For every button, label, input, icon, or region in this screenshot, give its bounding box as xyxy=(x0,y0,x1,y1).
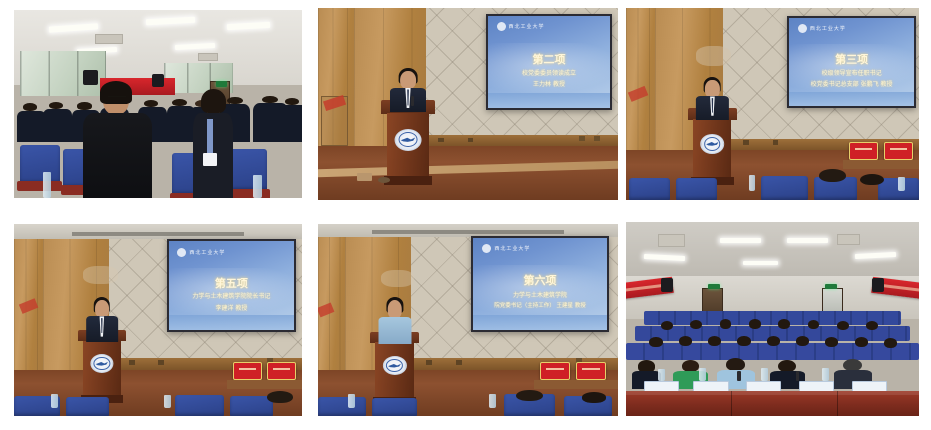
university-emblem-icon xyxy=(382,356,406,375)
glasses-icon xyxy=(108,96,127,101)
ceiling-vent xyxy=(658,234,684,248)
slide-subtitle-2: 院党委书记（主持工作） 王建星 教授 xyxy=(478,302,601,310)
wall-outlet xyxy=(773,140,779,145)
speaker-head xyxy=(400,71,416,90)
screen-logo-text: 西北工业大学 xyxy=(494,245,530,252)
speaker-person xyxy=(378,297,411,341)
speaker-shirt-light-blue xyxy=(378,317,411,343)
lanyard xyxy=(207,119,213,157)
screen-logo-text: 西北工业大学 xyxy=(509,23,545,30)
slide-title: 第五项 xyxy=(169,275,295,291)
wall-outlet xyxy=(129,360,135,365)
scene-audience-standing xyxy=(14,10,302,198)
speaker-person xyxy=(696,77,728,117)
slide-footer-band xyxy=(488,93,610,108)
wall-outlet xyxy=(158,360,164,365)
water-bottle xyxy=(253,175,262,198)
audience-back-rows xyxy=(14,93,302,142)
ceiling-vent xyxy=(198,53,218,61)
wall-speaker xyxy=(872,278,884,292)
university-emblem-icon xyxy=(177,248,186,257)
slide-footer-band xyxy=(169,315,295,329)
person-hair xyxy=(201,89,225,113)
ceiling-light xyxy=(743,261,778,265)
slide-title: 第三项 xyxy=(789,51,914,67)
ceiling-light xyxy=(787,238,828,243)
side-table xyxy=(534,380,618,390)
university-emblem-icon xyxy=(497,22,506,31)
name-plate xyxy=(884,142,913,159)
ceiling-vent xyxy=(837,234,860,246)
scene-podium-speaker: 西北工业大学 第二项 校党委委员领读成立 王力林 教授 xyxy=(318,8,618,200)
wall-panel-wood xyxy=(626,8,655,150)
table-seam xyxy=(837,391,838,416)
id-badge xyxy=(203,153,217,166)
slide-subtitle-1: 力学与土木建筑学院 xyxy=(478,291,601,300)
wall-speaker xyxy=(661,278,673,292)
screen-logo-text: 西北工业大学 xyxy=(810,25,846,32)
name-plate xyxy=(233,362,262,379)
foreground-audience xyxy=(626,169,919,200)
ceiling-light xyxy=(720,238,761,243)
university-emblem-icon xyxy=(482,244,491,253)
speaker-person xyxy=(390,68,426,110)
screen-logo: 西北工业大学 xyxy=(177,248,225,257)
speaker-head xyxy=(705,80,719,98)
slide-subtitle-2: 校党委书记总支部 张鹏飞 教授 xyxy=(794,80,909,89)
scene-audience-wide xyxy=(626,222,919,416)
emblem-bird-icon xyxy=(706,141,719,147)
slide-subtitle-1: 校级领导宣布任职书记 xyxy=(794,69,909,78)
university-emblem-icon xyxy=(395,129,422,151)
table-seam xyxy=(731,391,732,416)
microphone xyxy=(411,96,414,106)
speaker-head xyxy=(387,300,402,319)
emblem-bird-icon xyxy=(96,361,108,367)
exit-sign xyxy=(825,284,837,289)
screen-logo: 西北工业大学 xyxy=(497,22,545,31)
scene-podium-speaker-audience: 西北工业大学 第三项 校级领导宣布任职书记 校党委书记总支部 张鹏飞 教授 xyxy=(626,8,919,200)
photo-gallery: 西北工业大学 第二项 校党委委员领读成立 王力林 教授 xyxy=(0,0,931,430)
floor-object xyxy=(357,173,372,181)
wall-outlet xyxy=(468,138,473,143)
foreground-person-body xyxy=(83,113,152,198)
wall-speaker xyxy=(83,70,97,85)
university-emblem-icon xyxy=(701,134,725,154)
emblem-bird-icon xyxy=(388,363,401,369)
screen-logo: 西北工业大学 xyxy=(482,244,530,253)
ceiling xyxy=(626,222,919,280)
water-bottle xyxy=(43,172,52,198)
wall-panel-wood xyxy=(14,224,43,370)
university-emblem-icon xyxy=(90,354,113,373)
name-plate xyxy=(540,362,570,379)
wall-outlet xyxy=(456,360,462,365)
name-plate xyxy=(576,362,606,379)
slide-title: 第六项 xyxy=(473,272,607,288)
photo-tile-5[interactable]: 西北工业大学 第六项 力学与土木建筑学院 院党委书记（主持工作） 王建星 教授 xyxy=(318,224,618,416)
wall-outlet xyxy=(594,136,600,142)
exit-sign xyxy=(216,81,228,87)
slide-footer-band xyxy=(473,315,607,330)
projection-screen: 西北工业大学 第三项 校级领导宣布任职书记 校党委书记总支部 张鹏飞 教授 xyxy=(787,16,916,108)
auditorium-seat xyxy=(20,145,60,183)
wall-outlet xyxy=(579,136,585,142)
photo-tile-3[interactable]: 西北工业大学 第三项 校级领导宣布任职书记 校党委书记总支部 张鹏飞 教授 xyxy=(626,8,919,200)
scene-podium-speaker-audience: 西北工业大学 第五项 力学与土木建筑学院院长书记 李建洋 教授 xyxy=(14,224,302,416)
name-plate xyxy=(267,362,296,379)
wall-speaker xyxy=(152,74,164,87)
photo-tile-2[interactable]: 西北工业大学 第二项 校党委委员领读成立 王力林 教授 xyxy=(318,8,618,200)
head-table xyxy=(626,391,919,416)
slide-subtitle-1: 力学与土木建筑学院院长书记 xyxy=(174,292,290,301)
photo-tile-6[interactable] xyxy=(626,222,919,416)
ceiling-rail xyxy=(372,230,564,234)
slide-subtitle-1: 校党委委员领读成立 xyxy=(493,69,605,78)
slide-footer-band xyxy=(789,92,914,106)
emblem-bird-icon xyxy=(401,136,415,143)
screen-logo: 西北工业大学 xyxy=(798,24,846,33)
wall-panel-wood xyxy=(318,224,345,370)
projection-screen: 西北工业大学 第五项 力学与土木建筑学院院长书记 李建洋 教授 xyxy=(167,239,297,331)
university-emblem-icon xyxy=(798,24,807,33)
foreground-audience xyxy=(14,389,302,416)
baseboard xyxy=(426,135,618,147)
slide-subtitle-2: 李建洋 教授 xyxy=(174,304,290,313)
exit-sign xyxy=(708,284,720,289)
photo-tile-1[interactable] xyxy=(14,10,302,198)
floor-object xyxy=(378,177,390,183)
wall-art xyxy=(83,266,118,283)
side-table xyxy=(843,160,919,170)
wall-outlet xyxy=(743,140,749,145)
wall-art xyxy=(696,46,731,65)
projection-screen: 西北工业大学 第二项 校党委委员领读成立 王力林 教授 xyxy=(486,14,612,110)
speaker-person xyxy=(86,297,118,339)
projection-screen: 西北工业大学 第六项 力学与土木建筑学院 院党委书记（主持工作） 王建星 教授 xyxy=(471,236,609,332)
slide-title: 第二项 xyxy=(488,51,610,67)
foreground-audience xyxy=(318,389,618,416)
wall-outlet xyxy=(426,360,432,365)
screen-logo-text: 西北工业大学 xyxy=(189,249,225,256)
wall-art xyxy=(381,270,414,287)
podium xyxy=(387,100,429,184)
ceiling-rail xyxy=(72,232,245,236)
name-plate xyxy=(849,142,878,159)
podium-base xyxy=(384,176,431,184)
ceiling-vent xyxy=(95,34,124,43)
scene-podium-speaker-audience: 西北工业大学 第六项 力学与土木建筑学院 院党委书记（主持工作） 王建星 教授 xyxy=(318,224,618,416)
side-table xyxy=(227,380,302,390)
photo-tile-4[interactable]: 西北工业大学 第五项 力学与土木建筑学院院长书记 李建洋 教授 xyxy=(14,224,302,416)
slide-subtitle-2: 王力林 教授 xyxy=(493,80,605,89)
wall-outlet xyxy=(438,138,444,143)
